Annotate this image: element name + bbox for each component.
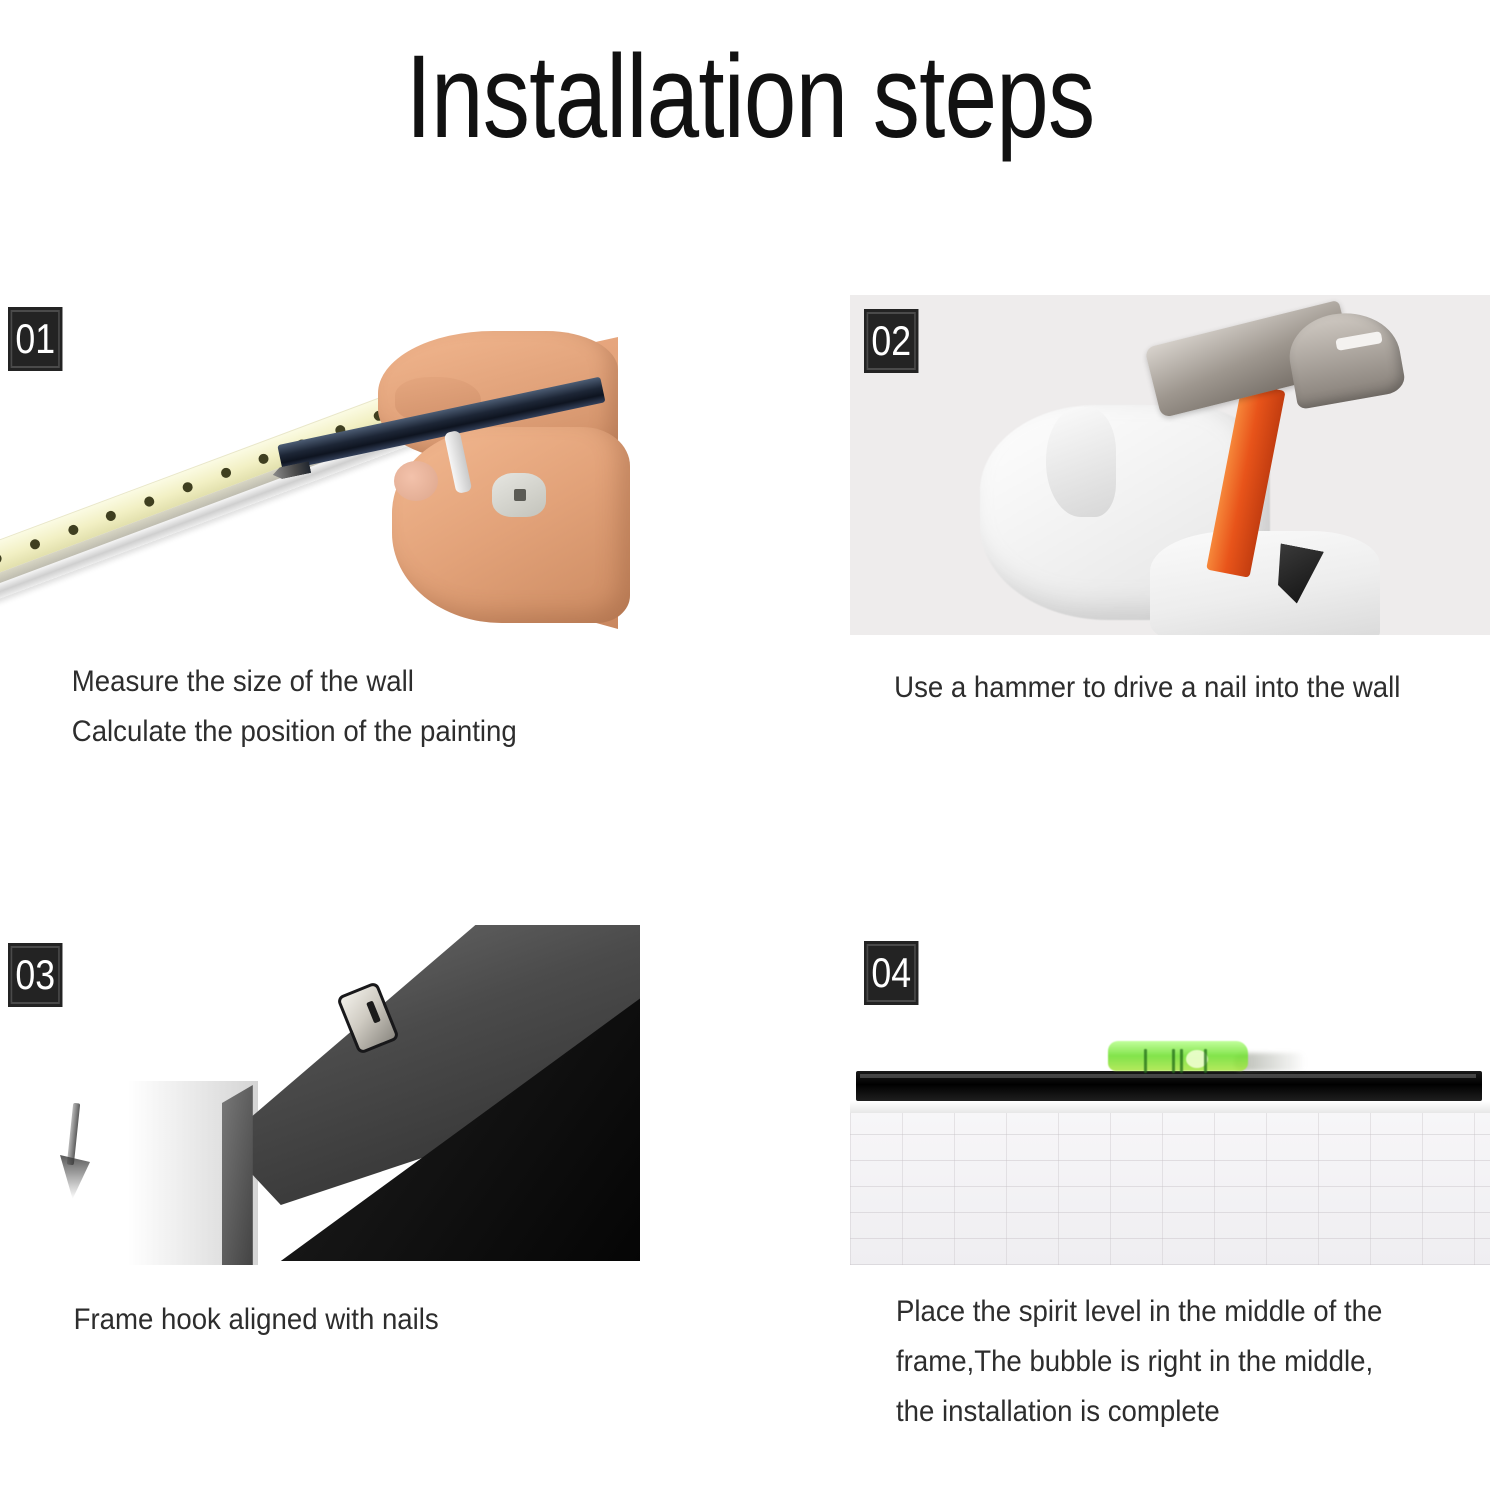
step-01-caption: Measure the size of the wall Calculate t…	[0, 657, 589, 757]
caption-line: frame,The bubble is right in the middle,	[896, 1337, 1439, 1387]
step-02-figure: 02	[850, 295, 1490, 635]
step-card-03: 03 Frame hook aligned with nails	[0, 925, 640, 1345]
thumb-icon	[394, 461, 438, 501]
step-card-01: 01 Measure the size of the wall Calculat…	[0, 295, 640, 757]
caption-line: Measure the size of the wall	[72, 657, 589, 707]
finger-icon	[1046, 407, 1116, 517]
installation-steps-grid: 01 Measure the size of the wall Calculat…	[0, 0, 1500, 1500]
step-card-02: 02 Use a hammer to drive a nail into the…	[850, 295, 1490, 713]
step-card-04: 04 Place the spirit level in the middle …	[850, 925, 1490, 1437]
wall-surface	[850, 1111, 1490, 1265]
step-03-figure: 03	[0, 925, 640, 1265]
caption-line: Calculate the position of the painting	[72, 707, 589, 757]
frame-underside	[850, 1101, 1490, 1113]
step-02-caption: Use a hammer to drive a nail into the wa…	[850, 663, 1439, 713]
hand-icon	[1150, 531, 1380, 635]
step-badge-02: 02	[864, 309, 918, 373]
wall-mark-icon	[492, 473, 546, 517]
step-03-caption: Frame hook aligned with nails	[0, 1295, 589, 1345]
step-badge-01: 01	[8, 307, 62, 371]
step-01-figure: 01	[0, 295, 640, 635]
caption-line: Frame hook aligned with nails	[74, 1295, 589, 1345]
caption-line: Place the spirit level in the middle of …	[896, 1287, 1439, 1337]
step-badge-04: 04	[864, 941, 918, 1005]
nail-icon	[62, 1103, 84, 1195]
spirit-level-icon	[1108, 1037, 1268, 1073]
frame-highlight	[860, 1074, 1476, 1078]
step-badge-03: 03	[8, 943, 62, 1007]
step-04-caption: Place the spirit level in the middle of …	[850, 1287, 1439, 1437]
caption-line: Use a hammer to drive a nail into the wa…	[894, 663, 1439, 713]
step-04-figure: 04	[850, 925, 1490, 1265]
caption-line: the installation is complete	[896, 1387, 1439, 1437]
hand-icon	[392, 427, 630, 623]
